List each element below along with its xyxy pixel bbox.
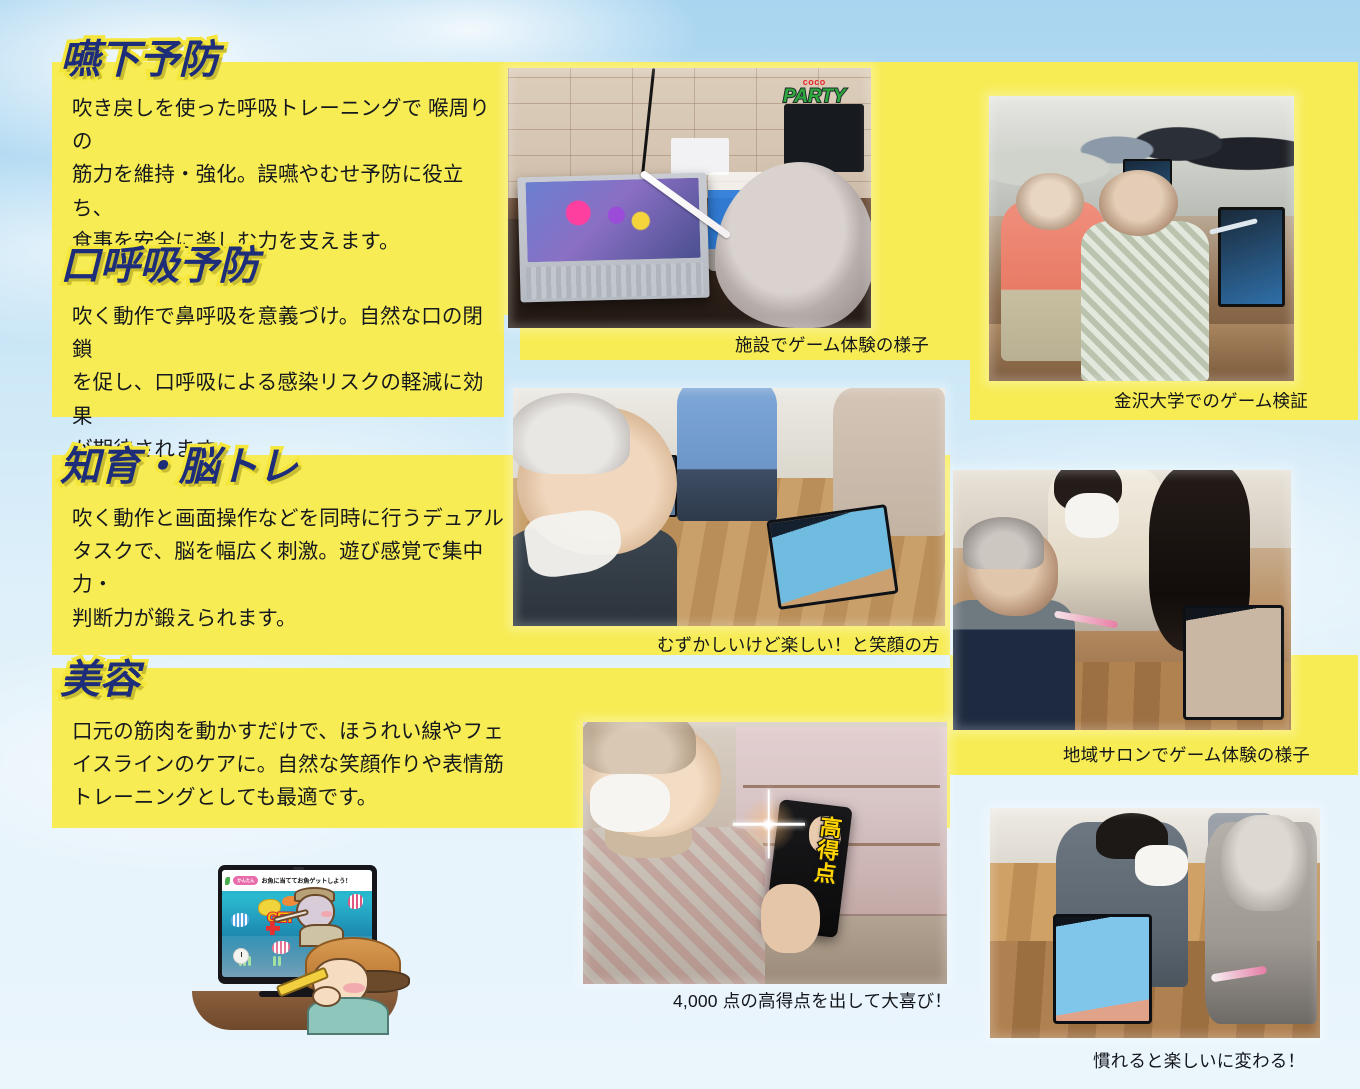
participant-hair	[1221, 815, 1307, 912]
section-heading-biyou: 美容	[60, 660, 139, 700]
caption-kanazawa: 金沢大学でのゲーム検証	[1114, 388, 1308, 413]
participant-head-1	[1016, 173, 1083, 230]
section-body-enge: 吹き戻しを使った呼吸トレーニングで 喉周りの 筋力を維持・強化。誤嚥やむせ予防に…	[72, 92, 502, 258]
participant-hair	[583, 722, 696, 774]
section-heading-chiiku: 知育・脳トレ	[60, 447, 298, 487]
high-score-sticker: 高得点	[786, 811, 841, 885]
clock-icon	[233, 948, 249, 964]
photo-smile	[513, 388, 945, 626]
grandpa-cheek	[321, 911, 332, 917]
game-title: お魚に当ててお魚ゲットしよう！	[261, 876, 351, 885]
photo-facility: coco PARTY	[508, 68, 871, 328]
photo-score: 高得点	[583, 722, 947, 984]
staff-blue-shirt	[677, 388, 776, 521]
section-heading-kokyu: 口呼吸予防	[60, 246, 258, 286]
section-heading-enge: 嚥下予防	[60, 40, 218, 80]
difficulty-badge: かんたん	[233, 876, 258, 885]
kid-cheek	[343, 983, 365, 994]
photo-kanazawa	[989, 96, 1294, 381]
photo-facility-content: coco PARTY	[508, 68, 871, 328]
face-mask	[1065, 493, 1119, 537]
crosshair-icon	[266, 921, 280, 935]
tablet	[1053, 914, 1152, 1024]
caption-smile: むずかしいけど楽しい！と笑顔の方	[657, 632, 940, 657]
game-header-bar: かんたん お魚に当ててお魚ゲットしよう！	[222, 870, 372, 891]
leaf-icon	[225, 877, 230, 885]
tablet	[1183, 605, 1284, 719]
caption-used: 慣れると楽しいに変わる！	[1093, 1048, 1305, 1073]
tissue-box	[671, 138, 729, 174]
section-body-kokyu: 吹く動作で鼻呼吸を意義づけ。自然な口の閉鎖 を促し、口呼吸による感染リスクの軽減…	[72, 300, 502, 466]
illustration-monitor-and-kid: かんたん お魚に当ててお魚ゲットしよう！ GET	[175, 860, 415, 1035]
section-body-chiiku: 吹く動作と画面操作などを同時に行うデュアル タスクで、脳を幅広く刺激。遊び感覚で…	[72, 502, 512, 635]
photo-kanazawa-content	[989, 96, 1294, 381]
party-logo-text: PARTY	[783, 87, 846, 106]
photo-score-content: 高得点	[583, 722, 947, 984]
face-mask	[1135, 845, 1188, 886]
poster-canvas: 嚥下予防 吹き戻しを使った呼吸トレーニングで 喉周りの 筋力を維持・強化。誤嚥や…	[0, 0, 1360, 1089]
caption-salon: 地域サロンでゲーム体験の様子	[1063, 742, 1310, 767]
participant-hair	[963, 517, 1044, 569]
caption-score: 4,000 点の高得点を出して大喜び！	[673, 988, 952, 1013]
kid-hand	[312, 986, 341, 1007]
fish-blue	[231, 913, 249, 927]
laptop-keyboard	[525, 262, 703, 299]
laptop-screen	[525, 177, 701, 261]
section-body-biyou: 口元の筋肉を動かすだけで、ほうれい線やフェ イスラインのケアに。自然な笑顔作りや…	[72, 715, 512, 815]
photo-smile-content	[513, 388, 945, 626]
participant-head-2	[1099, 170, 1178, 236]
photo-salon	[953, 470, 1291, 730]
participant-body	[953, 600, 1075, 730]
shelf-line-1	[743, 785, 940, 788]
participant-hair	[513, 393, 630, 474]
coco-party-logo: coco PARTY	[783, 78, 846, 106]
face-mask	[590, 774, 670, 832]
photo-used-content	[990, 808, 1320, 1038]
caption-facility: 施設でゲーム体験の様子	[735, 332, 929, 357]
fish-striped-right	[348, 894, 363, 909]
participant-check-shirt	[1081, 221, 1209, 381]
tablet-foreground	[767, 504, 899, 610]
photo-salon-content	[953, 470, 1291, 730]
hand-holding-phone	[761, 884, 819, 952]
laptop	[517, 172, 709, 302]
photo-used	[990, 808, 1320, 1038]
